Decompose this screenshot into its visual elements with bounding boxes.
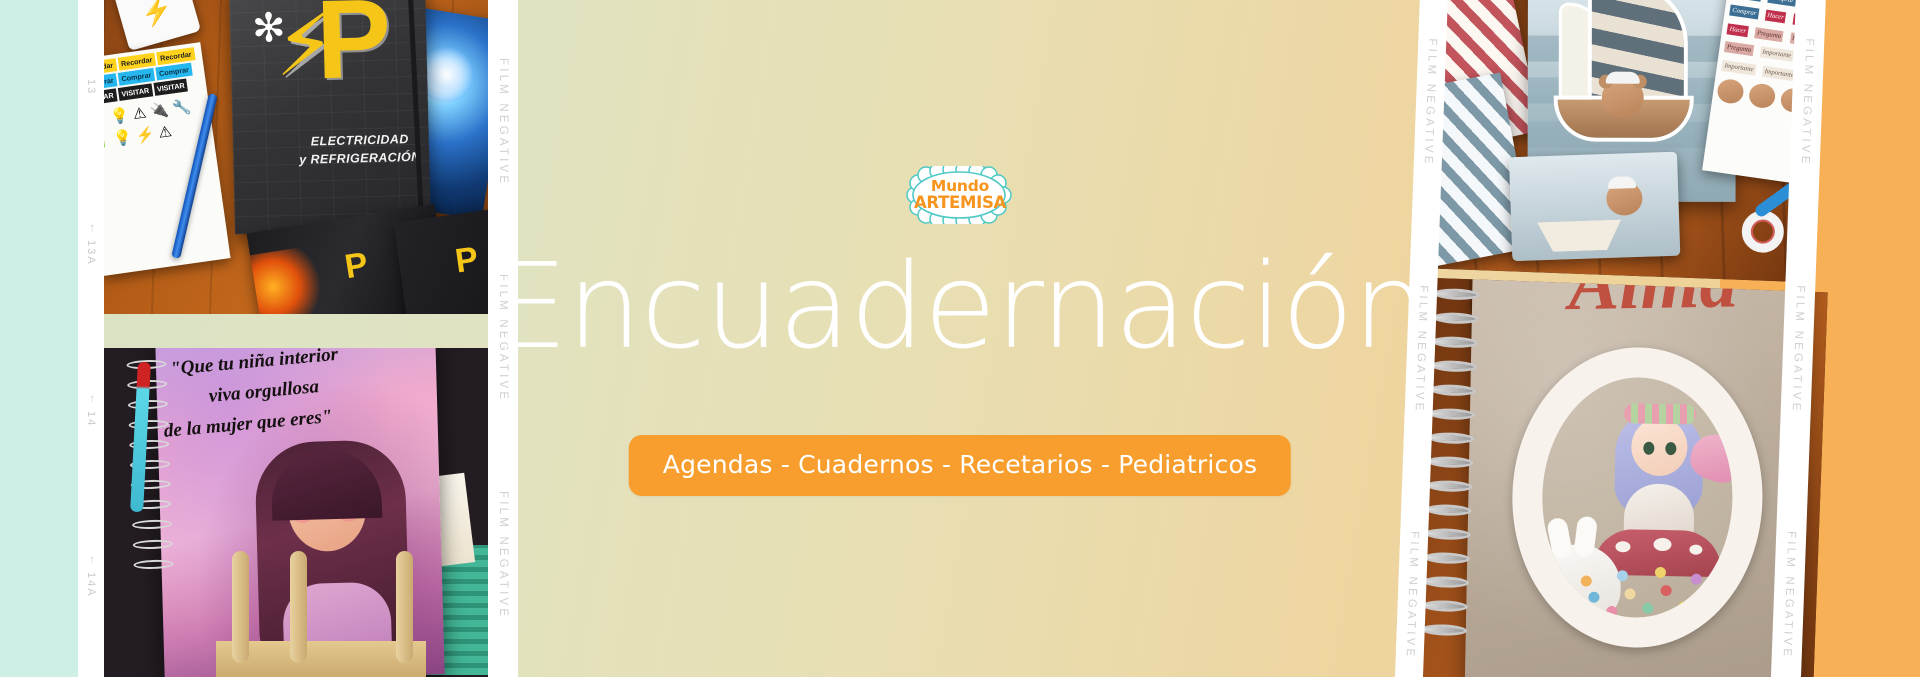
sticker-tag: Pregunta [1754, 27, 1784, 42]
logo-text-artemisa: ARTEMISA [914, 195, 1006, 211]
film-arrow-icon: ↓ [87, 222, 95, 236]
bulb-icon: 💡 [112, 128, 133, 148]
flower-crown-icon [1624, 403, 1696, 424]
bulb-icon: 💡 [109, 106, 130, 126]
sticker-tag: Importante [1762, 65, 1797, 81]
brand-monogram-small: P [453, 240, 481, 282]
film-negative-label: FILM NEGATIVE [497, 491, 509, 619]
stand-dowel [232, 551, 249, 663]
photo-electricidad-notebook: ⚡ ✻ ⚡ P ELECTRICIDAD y REFRIGERACIÓN Rec… [104, 0, 488, 314]
brand-monogram-small: P [342, 245, 371, 287]
plug-icon: 🔌 [149, 100, 170, 120]
sticker-tag: Hacer [1765, 10, 1787, 24]
quote-line-2: viva orgullosa [208, 376, 320, 408]
cover-text-line2: y REFRIGERACIÓN [299, 150, 421, 167]
film-frame-number: 13A [85, 240, 97, 266]
teddy-bear-sailor-icon [1602, 78, 1644, 118]
teddy-bear-sticker-icon [1748, 82, 1777, 109]
spark-effect-icon [247, 244, 334, 314]
film-frame-number: 14 [85, 411, 97, 427]
brand-logo[interactable]: Mundo ARTEMISA [904, 166, 1016, 224]
page-title: Encuadernación [494, 240, 1427, 372]
sequin-shaker-fill [1550, 540, 1732, 623]
film-negative-label: FILM NEGATIVE [1404, 531, 1421, 660]
left-mint-band [0, 0, 78, 677]
film-frame-mark: ↓ 14 [84, 396, 98, 427]
eye-icon [1643, 442, 1654, 455]
brand-monogram: P [315, 0, 392, 86]
film-negative-label: FILM NEGATIVE [1790, 285, 1807, 414]
elastic-band [407, 0, 424, 216]
sailor-cap-icon [1606, 72, 1640, 84]
sticker-tag: Comprar [1767, 0, 1796, 7]
paper-boat-icon [1537, 220, 1622, 253]
film-negative-label: FILM NEGATIVE [1781, 531, 1798, 660]
warning-icon: ⚠ [132, 103, 148, 123]
film-frame-marks: 13 ↓ 13A ↓ 14 ↓ 14A [78, 0, 104, 677]
film-frame-number: 13 [85, 79, 97, 95]
film-frame-mark: ↓ 14A [84, 557, 98, 598]
right-orange-band [1820, 0, 1920, 677]
sticker-tag: Comprar [1730, 5, 1759, 20]
film-frame-mark: 13 [85, 79, 97, 95]
stand-dowel [290, 551, 307, 663]
photo-alma-shaker-notebook: Alma [1421, 278, 1828, 677]
bolt-icon: ⚡ [104, 109, 108, 129]
eye-icon [1665, 442, 1676, 455]
hero-banner: 13 ↓ 13A ↓ 14 ↓ 14A ⚡ [0, 0, 1920, 677]
film-negative-label: FILM NEGATIVE [1422, 38, 1439, 167]
wrench-icon: 🔧 [171, 97, 192, 117]
teddy-bear-sticker-icon [1716, 78, 1745, 105]
cover-text-line1: ELECTRICIDAD [311, 132, 409, 148]
teddy-bear-sailor-icon [1606, 181, 1643, 216]
paper-boat-card [1509, 152, 1680, 262]
battery-icon: 🔋 [104, 131, 111, 151]
film-frame-mark: ↓ 13A [84, 225, 98, 266]
photo-nina-interior-notebook: "Que tu niña interior viva orgullosa de … [104, 348, 488, 677]
shaker-window-frame [1510, 345, 1766, 650]
sticker-label: Comprar [155, 63, 192, 81]
sticker-tag: Importante [1759, 46, 1794, 62]
film-negative-label: FILM NEGATIVE [1799, 38, 1816, 167]
film-negative-label: FILM NEGATIVE [497, 58, 509, 186]
sticker-tag: Pregunta [1724, 41, 1754, 56]
subtitle-badge[interactable]: Agendas - Cuadernos - Recetarios - Pedia… [629, 435, 1291, 496]
notebook-cover-alma: Alma [1465, 278, 1809, 677]
film-frame-number: 14A [85, 572, 97, 598]
sticker-tag: Comprar [1732, 0, 1761, 2]
sticker-tag: Importante [1722, 60, 1757, 76]
quote-line-3: de la mujer que eres" [163, 406, 333, 443]
warning-icon: ⚠ [157, 122, 173, 142]
bolt-icon: ⚡ [135, 124, 156, 144]
film-arrow-icon: ↓ [87, 554, 95, 568]
notebook-cover-electricidad: ✻ ⚡ P ELECTRICIDAD y REFRIGERACIÓN [229, 0, 431, 234]
photo-felix-nautical-set: Félix Félix Comprar Comprar Comprar Hace… [1412, 0, 1815, 282]
film-arrow-icon: ↓ [87, 393, 95, 407]
stand-dowel [396, 551, 413, 663]
sticker-tag: Hacer [1727, 23, 1749, 37]
sailor-cap-icon [1608, 176, 1636, 189]
filmstrip-left-outer: 13 ↓ 13A ↓ 14 ↓ 14A [78, 0, 104, 677]
